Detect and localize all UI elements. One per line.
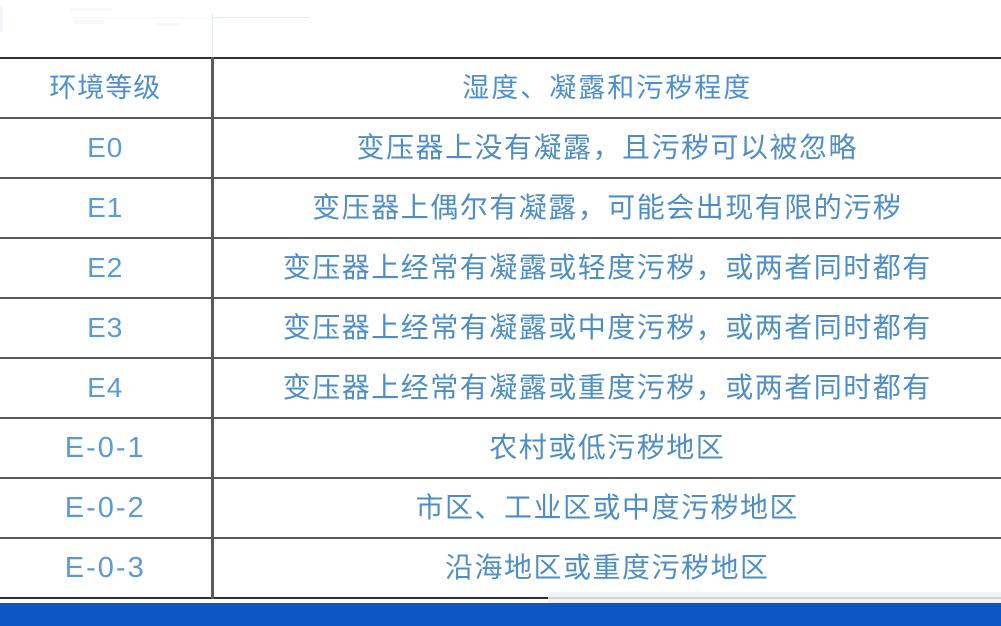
description-label: 沿海地区或重度污秽地区 bbox=[445, 552, 770, 583]
scan-artifact bbox=[155, 23, 181, 26]
description-label: 变压器上经常有凝露或轻度污秽，或两者同时都有 bbox=[283, 252, 932, 283]
cell-description: 变压器上经常有凝露或轻度污秽，或两者同时都有 bbox=[212, 238, 1001, 298]
cell-grade: E4 bbox=[0, 358, 212, 418]
cell-description: 农村或低污秽地区 bbox=[212, 418, 1001, 478]
scan-artifact bbox=[70, 8, 112, 11]
description-label: 市区、工业区或中度污秽地区 bbox=[415, 492, 799, 523]
cell-grade: E-0-1 bbox=[0, 418, 212, 478]
description-label: 变压器上没有凝露，且污秽可以被忽略 bbox=[356, 132, 858, 163]
cell-description: 变压器上偶尔有凝露，可能会出现有限的污秽 bbox=[212, 178, 1001, 238]
bottom-accent-band bbox=[0, 603, 1001, 626]
grade-label: E3 bbox=[87, 312, 123, 343]
table-body: 环境等级 湿度、凝露和污秽程度 E0 变压器上没有凝露，且污秽可以被忽略 E1 bbox=[0, 58, 1001, 598]
table-row: E1 变压器上偶尔有凝露，可能会出现有限的污秽 bbox=[0, 178, 1001, 238]
table-row: E3 变压器上经常有凝露或中度污秽，或两者同时都有 bbox=[0, 298, 1001, 358]
cell-description: 变压器上经常有凝露或中度污秽，或两者同时都有 bbox=[212, 298, 1001, 358]
grade-label: E4 bbox=[87, 372, 123, 403]
grade-label: E0 bbox=[87, 132, 123, 163]
table-row: E0 变压器上没有凝露，且污秽可以被忽略 bbox=[0, 118, 1001, 178]
description-label: 变压器上经常有凝露或重度污秽，或两者同时都有 bbox=[283, 372, 932, 403]
grade-label: E-0-1 bbox=[65, 432, 146, 464]
table-header-row: 环境等级 湿度、凝露和污秽程度 bbox=[0, 58, 1001, 118]
cell-grade: E2 bbox=[0, 238, 212, 298]
table-row: E4 变压器上经常有凝露或重度污秽，或两者同时都有 bbox=[0, 358, 1001, 418]
scan-artifact bbox=[75, 17, 225, 19]
cell-description: 变压器上经常有凝露或重度污秽，或两者同时都有 bbox=[212, 358, 1001, 418]
cell-grade: E-0-3 bbox=[0, 538, 212, 598]
environment-grade-table-container: 环境等级 湿度、凝露和污秽程度 E0 变压器上没有凝露，且污秽可以被忽略 E1 bbox=[0, 57, 1001, 599]
page-root: { "document": { "title": "环境等级 - 湿度、凝露和污… bbox=[0, 0, 1001, 626]
table-row: E-0-2 市区、工业区或中度污秽地区 bbox=[0, 478, 1001, 538]
grade-label: E1 bbox=[87, 192, 123, 223]
cell-description: 变压器上没有凝露，且污秽可以被忽略 bbox=[212, 118, 1001, 178]
horizontal-guide-line bbox=[213, 17, 309, 18]
table-row: E-0-3 沿海地区或重度污秽地区 bbox=[0, 538, 1001, 598]
column-header-grade: 环境等级 bbox=[0, 58, 212, 118]
cell-grade: E0 bbox=[0, 118, 212, 178]
grade-label: E-0-3 bbox=[65, 552, 146, 584]
grade-label: E-0-2 bbox=[65, 492, 146, 524]
cell-description: 沿海地区或重度污秽地区 bbox=[212, 538, 1001, 598]
vertical-guide-line bbox=[212, 14, 213, 58]
environment-grade-table: 环境等级 湿度、凝露和污秽程度 E0 变压器上没有凝露，且污秽可以被忽略 E1 bbox=[0, 57, 1001, 599]
table-row: E2 变压器上经常有凝露或轻度污秽，或两者同时都有 bbox=[0, 238, 1001, 298]
description-label: 变压器上经常有凝露或中度污秽，或两者同时都有 bbox=[283, 312, 932, 343]
scan-artifact bbox=[74, 20, 104, 24]
column-header-description: 湿度、凝露和污秽程度 bbox=[212, 58, 1001, 118]
cell-description: 市区、工业区或中度污秽地区 bbox=[212, 478, 1001, 538]
cell-grade: E-0-2 bbox=[0, 478, 212, 538]
column-header-description-label: 湿度、凝露和污秽程度 bbox=[462, 73, 752, 103]
description-label: 变压器上偶尔有凝露，可能会出现有限的污秽 bbox=[312, 192, 902, 223]
grade-label: E2 bbox=[87, 252, 123, 283]
cell-grade: E1 bbox=[0, 178, 212, 238]
cell-grade: E3 bbox=[0, 298, 212, 358]
column-header-grade-label: 环境等级 bbox=[49, 73, 161, 103]
description-label: 农村或低污秽地区 bbox=[489, 432, 725, 463]
table-row: E-0-1 农村或低污秽地区 bbox=[0, 418, 1001, 478]
scan-artifact bbox=[0, 6, 3, 32]
